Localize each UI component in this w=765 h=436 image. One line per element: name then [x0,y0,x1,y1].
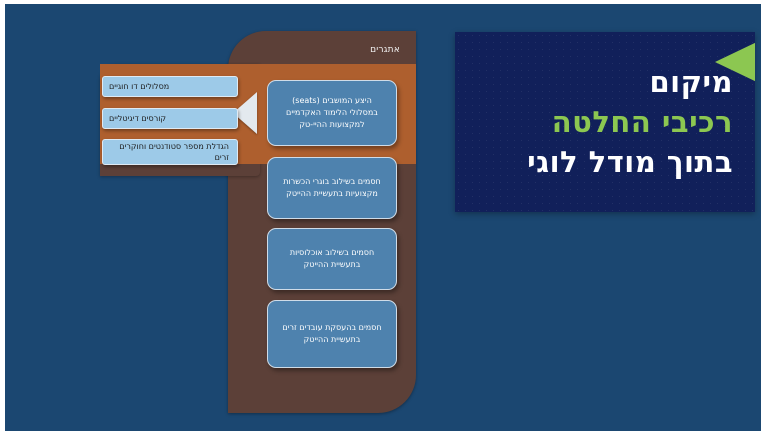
slide-canvas: אתגרים מסלולים דו חוגיים קורסים דיגיטליי… [0,0,765,436]
left-item-label: קורסים דיגיטליים [109,113,166,124]
challenge-card-label: היצע המושבים (seats) במסלולי הלימוד האקד… [277,95,387,131]
list-item[interactable]: קורסים דיגיטליים [102,108,238,129]
challenge-card-label: חסמים בהעסקת עובדים זרים בתעשיית ההייטק [277,322,387,346]
challenge-card[interactable]: היצע המושבים (seats) במסלולי הלימוד האקד… [267,80,397,146]
slide-edge-right [761,0,765,436]
left-item-label: הגדלת מספר סטודנטים וחוקרים זרים [109,141,229,163]
title-line-3: בתוך מודל לוגי [475,142,733,182]
challenge-card[interactable]: חסמים בשילוב אוכלוסיות בתעשיית ההייטק [267,228,397,290]
title-line-1: מיקום [475,62,733,102]
list-item[interactable]: מסלולים דו חוגיים [102,76,238,97]
title-panel: מיקום רכיבי החלטה בתוך מודל לוגי [455,32,755,212]
page-title: מיקום רכיבי החלטה בתוך מודל לוגי [475,62,733,182]
challenges-diagram: אתגרים מסלולים דו חוגיים קורסים דיגיטליי… [0,0,430,436]
list-item[interactable]: הגדלת מספר סטודנטים וחוקרים זרים [102,139,238,165]
challenge-card[interactable]: חסמים בהעסקת עובדים זרים בתעשיית ההייטק [267,300,397,368]
title-line-2: רכיבי החלטה [475,102,733,142]
challenge-card[interactable]: חסמים בשילוב בוגרי הכשרות מקצועיות בתעשי… [267,157,397,219]
challenge-card-label: חסמים בשילוב אוכלוסיות בתעשיית ההייטק [277,247,387,271]
left-item-label: מסלולים דו חוגיים [109,81,169,92]
challenge-card-label: חסמים בשילוב בוגרי הכשרות מקצועיות בתעשי… [277,176,387,200]
diagram-header-label: אתגרים [240,40,406,60]
